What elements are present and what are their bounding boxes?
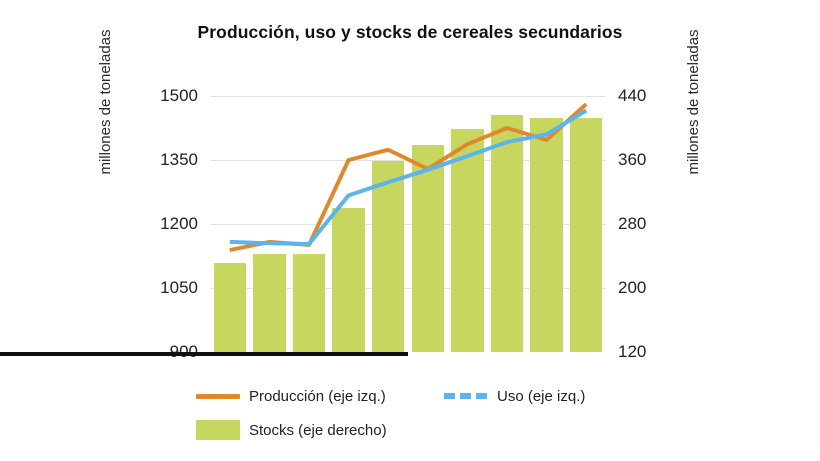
y-tick-right-120: 120 (618, 342, 698, 362)
legend-swatch-dashed-line-icon (444, 393, 488, 399)
legend-label-produccion: Producción (eje izq.) (249, 388, 386, 405)
y-axis-left-title: millones de toneladas (97, 0, 117, 232)
y-tick-left-1200: 1200 (118, 214, 198, 234)
y-tick-right-360: 360 (618, 150, 698, 170)
legend-item-produccion[interactable]: Producción (eje izq.) (196, 382, 386, 410)
y-tick-right-440: 440 (618, 86, 698, 106)
chart-legend: Producción (eje izq.) Uso (eje izq.) Sto… (196, 382, 636, 444)
plot-area (210, 96, 606, 352)
legend-item-uso[interactable]: Uso (eje izq.) (444, 382, 585, 410)
y-axis-left-ticks: 1500 1350 1200 1050 900 (118, 0, 198, 461)
y-tick-left-1050: 1050 (118, 278, 198, 298)
y-tick-left-1350: 1350 (118, 150, 198, 170)
y-tick-right-280: 280 (618, 214, 698, 234)
legend-swatch-line-icon (196, 394, 240, 399)
legend-item-stocks[interactable]: Stocks (eje derecho) (196, 416, 387, 444)
legend-label-uso: Uso (eje izq.) (497, 388, 585, 405)
legend-swatch-bar-icon (196, 420, 240, 440)
y-tick-left-1500: 1500 (118, 86, 198, 106)
x-axis-line (0, 352, 408, 356)
legend-label-stocks: Stocks (eje derecho) (249, 422, 387, 439)
legend-row-1: Producción (eje izq.) Uso (eje izq.) (196, 382, 636, 410)
line-uso (230, 111, 586, 245)
chart-container: Producción, uso y stocks de cereales sec… (0, 0, 820, 461)
y-tick-right-200: 200 (618, 278, 698, 298)
line-series-group (210, 96, 606, 352)
legend-row-2: Stocks (eje derecho) (196, 416, 636, 444)
